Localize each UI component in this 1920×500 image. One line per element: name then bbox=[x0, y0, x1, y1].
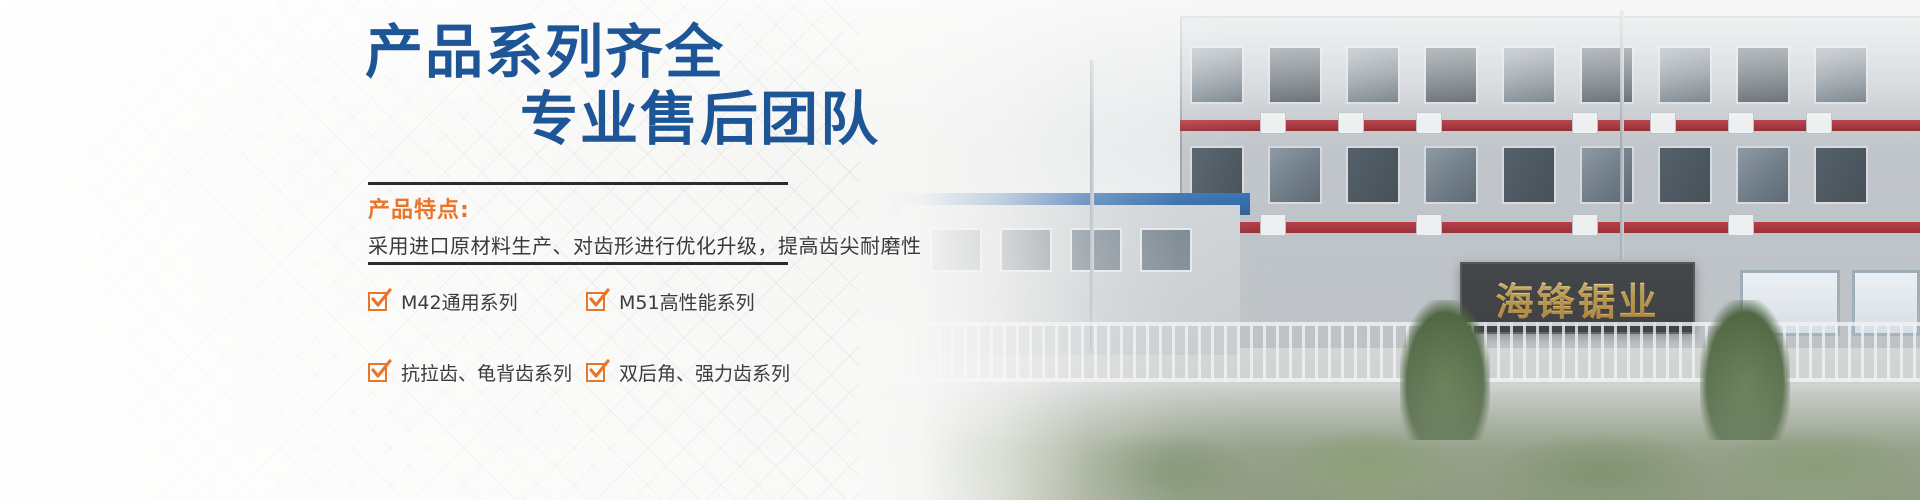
promo-banner: 海锋锯业 产品系列齐全 专业售后团队 产品特点: 采用进口原材料生产、对齿形进行… bbox=[0, 0, 1920, 500]
checklist-item[interactable]: M51高性能系列 bbox=[586, 288, 808, 315]
checklist-item-label: M42通用系列 bbox=[401, 288, 518, 315]
feature-checklist: M42通用系列 M51高性能系列 抗拉齿、龟背齿系列 bbox=[368, 288, 808, 386]
checklist-item[interactable]: 抗拉齿、龟背齿系列 bbox=[368, 359, 586, 386]
headline-line-1: 产品系列齐全 bbox=[0, 22, 820, 83]
headline-line-2: 专业售后团队 bbox=[0, 89, 820, 150]
banner-content: 产品系列齐全 专业售后团队 产品特点: 采用进口原材料生产、对齿形进行优化升级，… bbox=[0, 0, 880, 500]
checkbox-checked-icon bbox=[368, 363, 387, 382]
divider-bottom bbox=[368, 262, 788, 265]
checklist-item-label: M51高性能系列 bbox=[619, 288, 755, 315]
checkbox-checked-icon bbox=[586, 363, 605, 382]
checklist-item-label: 双后角、强力齿系列 bbox=[619, 359, 790, 386]
checkbox-checked-icon bbox=[586, 292, 605, 311]
divider-top bbox=[368, 182, 788, 185]
checkbox-checked-icon bbox=[368, 292, 387, 311]
headline: 产品系列齐全 专业售后团队 bbox=[0, 22, 820, 150]
checklist-item[interactable]: M42通用系列 bbox=[368, 288, 586, 315]
feature-description: 采用进口原材料生产、对齿形进行优化升级，提高齿尖耐磨性 bbox=[368, 230, 922, 259]
feature-title: 产品特点: bbox=[368, 192, 470, 224]
checklist-item[interactable]: 双后角、强力齿系列 bbox=[586, 359, 808, 386]
checklist-item-label: 抗拉齿、龟背齿系列 bbox=[401, 359, 572, 386]
